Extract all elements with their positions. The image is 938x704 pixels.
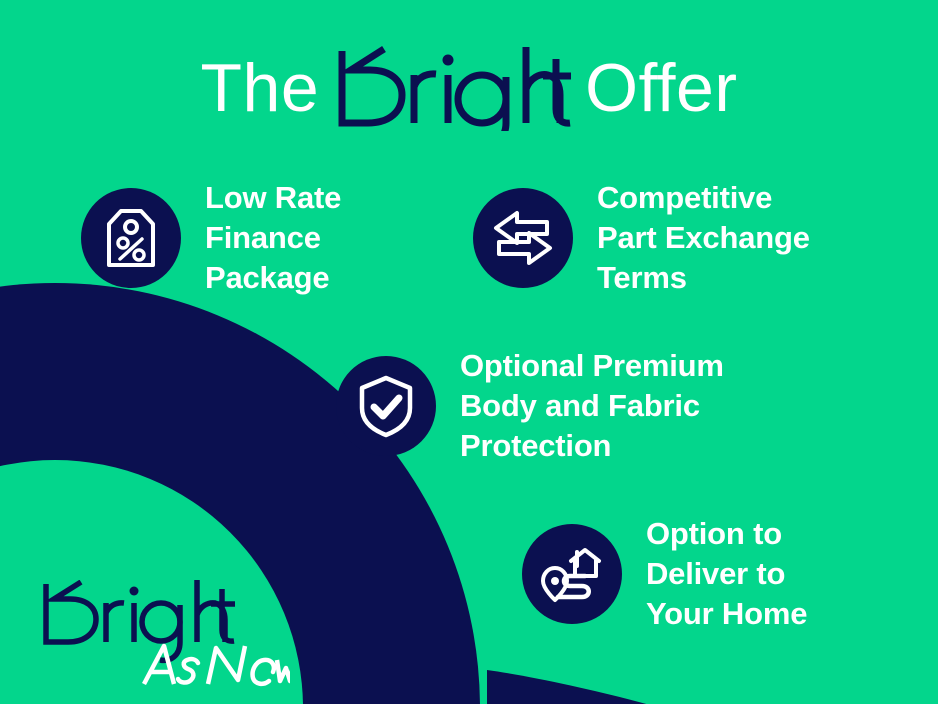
feature-item-home-delivery[interactable]: Option to Deliver to Your Home <box>522 514 807 634</box>
delivery-home-pin-icon <box>522 524 622 624</box>
title-prefix: The <box>200 49 319 127</box>
feature-label: Competitive Part Exchange Terms <box>597 178 810 298</box>
logo-primary-text <box>46 580 235 660</box>
corner-wedge-shape <box>487 670 700 704</box>
feature-item-body-fabric-protection[interactable]: Optional Premium Body and Fabric Protect… <box>336 346 724 466</box>
brand-logo[interactable] <box>40 580 290 695</box>
shield-check-icon <box>336 356 436 456</box>
exchange-arrows-icon <box>473 188 573 288</box>
title-brand-logotype <box>334 45 571 136</box>
feature-label: Option to Deliver to Your Home <box>646 514 807 634</box>
title-suffix: Offer <box>585 49 737 127</box>
logo-secondary-text <box>144 646 290 684</box>
price-tag-percent-icon <box>81 188 181 288</box>
feature-item-low-rate-finance[interactable]: Low Rate Finance Package <box>81 178 341 298</box>
feature-label: Low Rate Finance Package <box>205 178 341 298</box>
feature-item-part-exchange[interactable]: Competitive Part Exchange Terms <box>473 178 810 298</box>
feature-label: Optional Premium Body and Fabric Protect… <box>460 346 724 466</box>
poster-canvas: The Offer <box>0 0 938 704</box>
page-title: The Offer <box>0 42 938 133</box>
